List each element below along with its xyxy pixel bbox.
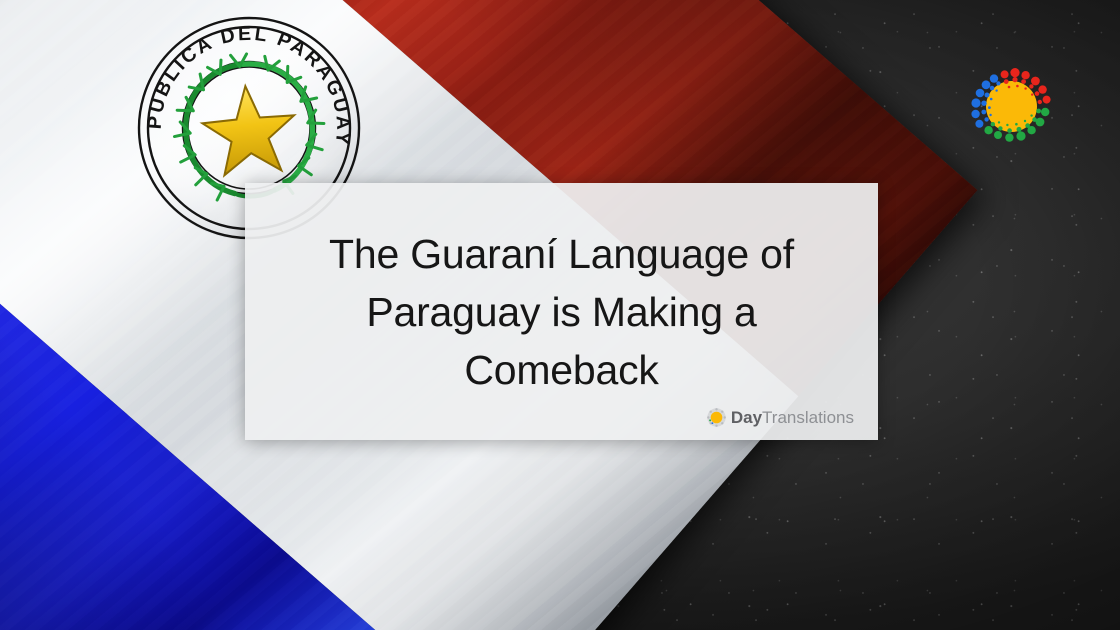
mini-sun-icon xyxy=(707,408,726,427)
title-card: The Guaraní Language of Paraguay is Maki… xyxy=(245,183,878,440)
page-title: The Guaraní Language of Paraguay is Maki… xyxy=(282,225,842,399)
logo-wordmark: DayTranslations xyxy=(731,408,854,427)
day-translations-logo: DayTranslations xyxy=(707,408,854,427)
banner-image: REPUBLICA DEL PARAGUAY xyxy=(0,0,1120,630)
logo-day-text: Day xyxy=(731,408,762,427)
logo-translations-text: Translations xyxy=(762,408,854,427)
day-translations-sun-icon xyxy=(961,56,1062,157)
